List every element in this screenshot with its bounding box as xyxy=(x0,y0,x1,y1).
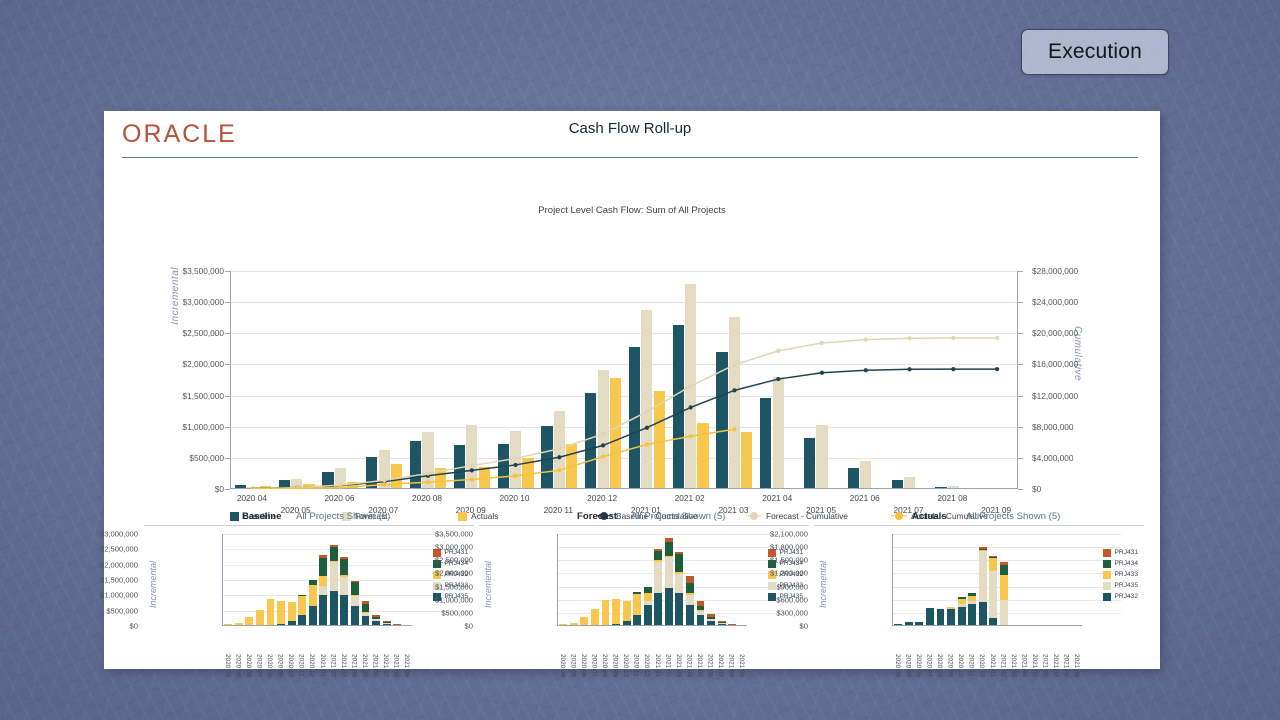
subchart-bar-segment xyxy=(288,602,296,621)
subchart-bar-segment xyxy=(351,582,359,595)
subchart-x-tick: 2021 01 xyxy=(989,654,996,677)
legend-item[interactable]: PRJ432 xyxy=(1103,593,1138,601)
subchart-x-tick: 2020 07 xyxy=(255,654,262,677)
subchart-plot-area: $0$300,000$600,000$900,000$1,200,000$1,5… xyxy=(892,534,1082,626)
subchart-bar-segment xyxy=(686,576,694,583)
subchart-bar-segment xyxy=(968,596,976,601)
subchart-subtitle: All Projects Shown (5) xyxy=(966,511,1060,522)
tick-mark xyxy=(225,427,230,428)
subchart-x-tick: 2020 10 xyxy=(622,654,629,677)
subchart-title: Actuals xyxy=(912,511,947,522)
subchart-x-tick: 2020 06 xyxy=(580,654,587,677)
subchart-bar-segment xyxy=(968,604,976,625)
subchart-bar-segment xyxy=(989,558,997,571)
legend-swatch xyxy=(1103,593,1111,601)
subchart-x-tick: 2020 12 xyxy=(643,654,650,677)
execution-button-label: Execution xyxy=(1048,40,1142,64)
subchart-bar-segment xyxy=(675,554,683,572)
subchart-bar-segment xyxy=(707,621,715,625)
tick-mark xyxy=(225,396,230,397)
main-chart-y2-tick: $28,000,000 xyxy=(1024,266,1114,276)
subchart-header: BaselineAll Projects Shown (5) xyxy=(144,509,474,526)
subchart-bar-segment xyxy=(245,617,253,625)
subchart-x-tick: 2021 05 xyxy=(361,654,368,677)
subchart-bar-segment xyxy=(665,542,673,556)
subchart-bar-segment xyxy=(351,596,359,606)
subchart-bar-segment xyxy=(362,612,370,616)
subchart-bar-segment xyxy=(612,624,620,625)
subchart-y-tick: $1,800,000 xyxy=(718,543,808,552)
main-chart-y2-tick: $0 xyxy=(1024,484,1114,494)
subchart-bar-segment xyxy=(288,621,296,625)
subchart-x-tick: 2020 11 xyxy=(968,654,975,677)
subchart-bar-segment xyxy=(968,601,976,604)
subchart-bar-segment xyxy=(654,562,662,593)
subchart-y-tick: $0 xyxy=(718,622,808,631)
main-chart-x-tick: 2020 10 xyxy=(500,493,530,503)
subchart-title: Baseline xyxy=(242,511,281,522)
subchart-bar-segment xyxy=(915,622,923,625)
main-chart-plot-area: $0$500,000$1,000,000$1,500,000$2,000,000… xyxy=(230,271,1018,489)
legend-label: PRJ431 xyxy=(1115,549,1138,556)
tick-mark xyxy=(225,302,230,303)
subchart-bar-segment xyxy=(894,624,902,625)
main-chart-x-tick: 2020 06 xyxy=(324,493,354,503)
main-chart-x-tick: 2020 12 xyxy=(587,493,617,503)
main-cashflow-chart: Project Level Cash Flow: Sum of All Proj… xyxy=(104,159,1160,409)
subchart-bar-segment xyxy=(989,557,997,558)
subchart-bar-segment xyxy=(602,600,610,625)
subchart-bar-segment xyxy=(968,593,976,596)
subchart-bar-segment xyxy=(330,547,338,560)
subchart-bar-segment xyxy=(298,596,306,615)
subchart-x-tick: 2020 05 xyxy=(234,654,241,677)
subchart-bar-segment xyxy=(372,619,380,621)
subchart-bar-segment xyxy=(256,610,264,625)
subchart-bar-segment xyxy=(665,538,673,542)
subchart-bar-segment xyxy=(612,599,620,624)
subchart-bar-segment xyxy=(697,611,705,615)
subchart-bar-segment xyxy=(580,617,588,625)
tick-mark xyxy=(225,333,230,334)
gridline xyxy=(893,534,1121,535)
subchart-bar-segment xyxy=(905,622,913,625)
subchart-subtitle: All Projects Shown (5) xyxy=(296,511,390,522)
page-title: Cash Flow Roll-up xyxy=(122,120,1138,137)
subchart-y-axis-title: Incremental xyxy=(818,561,828,608)
tick-mark xyxy=(1018,271,1023,272)
subchart-bar-segment xyxy=(330,562,338,591)
subchart-bar-segment xyxy=(654,593,662,625)
subchart-x-tick: 2021 09 xyxy=(1073,654,1080,677)
subchart-bar-segment xyxy=(351,595,359,596)
subchart-bar-segment xyxy=(979,547,987,549)
tick-mark xyxy=(1018,333,1023,334)
subchart-bar-segment xyxy=(697,606,705,611)
subchart-title: Forecast xyxy=(577,511,617,522)
subchart-bar-segment xyxy=(298,595,306,596)
subchart-bar-segment xyxy=(989,571,997,618)
subchart-bar-segment xyxy=(979,549,987,550)
subchart-bar-segment xyxy=(665,557,673,588)
legend-label: PRJ432 xyxy=(1115,593,1138,600)
main-chart-y2-tick: $16,000,000 xyxy=(1024,359,1114,369)
main-chart-x-tick: 2020 08 xyxy=(412,493,442,503)
subchart-bar-segment xyxy=(591,609,599,625)
subchart-bar-segment xyxy=(1000,565,1008,575)
subchart-bar-segment xyxy=(1000,562,1008,565)
subchart-x-tick: 2021 06 xyxy=(707,654,714,677)
subchart-x-tick: 2020 10 xyxy=(957,654,964,677)
subchart-bar-segment xyxy=(362,601,370,604)
subchart-bar-segment xyxy=(686,583,694,594)
subchart-actuals: ActualsAll Projects Shown (5)Incremental… xyxy=(814,509,1144,664)
subchart-x-tick: 2020 08 xyxy=(601,654,608,677)
subchart-bar-segment xyxy=(340,595,348,625)
subchart-bar-segment xyxy=(644,601,652,604)
execution-button[interactable]: Execution xyxy=(1021,29,1169,75)
subchart-bar-segment xyxy=(633,615,641,626)
subchart-bar-segment xyxy=(319,586,327,595)
legend-swatch xyxy=(1103,560,1111,568)
subchart-y-tick: $2,500,000 xyxy=(48,545,138,554)
main-chart-x-tick: 2021 08 xyxy=(937,493,967,503)
subchart-y-tick: $3,000,000 xyxy=(48,530,138,539)
subchart-bar-segment xyxy=(235,623,243,625)
subchart-bar-segment xyxy=(1000,600,1008,625)
subchart-x-tick: 2021 03 xyxy=(1010,654,1017,677)
legend-item[interactable]: PRJ431 xyxy=(1103,549,1138,557)
subchart-x-tick: 2021 03 xyxy=(340,654,347,677)
subchart-bar-segment xyxy=(372,617,380,620)
subchart-bar-segment xyxy=(362,616,370,625)
subchart-bar-segment xyxy=(675,593,683,625)
subchart-x-tick: 2020 08 xyxy=(936,654,943,677)
subchart-x-tick: 2021 02 xyxy=(329,654,336,677)
subchart-x-tick: 2020 05 xyxy=(904,654,911,677)
legend-item[interactable]: PRJ434 xyxy=(1103,560,1138,568)
subchart-y-tick: $300,000 xyxy=(718,608,808,617)
cumulative-lines xyxy=(231,271,1019,489)
subchart-bar-segment xyxy=(623,601,631,622)
subchart-x-tick: 2020 09 xyxy=(612,654,619,677)
subchart-bar-segment xyxy=(686,595,694,606)
subchart-bar-segment xyxy=(340,575,348,577)
subchart-bar-segment xyxy=(958,599,966,604)
subchart-y-tick: $0 xyxy=(383,622,473,631)
subchart-x-tick: 2020 06 xyxy=(245,654,252,677)
subchart-bar-segment xyxy=(697,610,705,611)
subchart-bar-segment xyxy=(675,572,683,574)
main-chart-y-tick: $1,000,000 xyxy=(134,422,224,432)
tick-mark xyxy=(1018,364,1023,365)
subchart-bar-segment xyxy=(330,591,338,625)
subchart-bar-segment xyxy=(926,608,934,625)
subchart-bar-segment xyxy=(623,621,631,625)
subchart-bar-segment xyxy=(644,593,652,601)
main-chart-y2-tick: $12,000,000 xyxy=(1024,391,1114,401)
subchart-y-tick: $0 xyxy=(48,622,138,631)
subchart-y-tick: $2,000,000 xyxy=(383,569,473,578)
subchart-x-tick: 2020 12 xyxy=(978,654,985,677)
subchart-bar-segment xyxy=(979,551,987,601)
subchart-bar-segment xyxy=(319,555,327,558)
subchart-bar-segment xyxy=(633,594,641,615)
subchart-bar-segment xyxy=(707,617,715,619)
subchart-bar-segment xyxy=(654,551,662,560)
subchart-bar-segment xyxy=(947,609,955,625)
subchart-bar-segment xyxy=(654,560,662,562)
subchart-x-tick: 2020 06 xyxy=(915,654,922,677)
subchart-y-tick: $1,200,000 xyxy=(718,569,808,578)
subchart-x-tick: 2021 02 xyxy=(999,654,1006,677)
subchart-bar-segment xyxy=(224,624,232,625)
subchart-x-tick: 2021 04 xyxy=(685,654,692,677)
subchart-x-tick: 2020 09 xyxy=(947,654,954,677)
main-chart-y2-tick: $4,000,000 xyxy=(1024,453,1114,463)
subchart-bar-segment xyxy=(372,615,380,617)
subchart-bar-segment xyxy=(319,576,327,586)
subchart-x-tick: 2021 09 xyxy=(403,654,410,677)
subchart-bar-segment xyxy=(330,545,338,547)
subchart-x-tick: 2021 01 xyxy=(319,654,326,677)
subchart-bar-segment xyxy=(309,606,317,625)
subchart-bar-segment xyxy=(937,609,945,625)
subchart-x-tick: 2020 07 xyxy=(590,654,597,677)
subchart-legend: PRJ431PRJ434PRJ433PRJ435PRJ432 xyxy=(1103,549,1138,604)
legend-swatch xyxy=(1103,582,1111,590)
subchart-y-tick: $600,000 xyxy=(718,595,808,604)
subchart-bar-segment xyxy=(947,607,955,609)
subchart-x-tick: 2020 04 xyxy=(894,654,901,677)
subchart-x-tick: 2021 03 xyxy=(675,654,682,677)
subchart-bar-segment xyxy=(362,604,370,611)
subchart-y-axis-title: Incremental xyxy=(148,561,158,608)
subchart-y-tick: $1,500,000 xyxy=(48,576,138,585)
subchart-x-tick: 2021 08 xyxy=(1063,654,1070,677)
subchart-bar-segment xyxy=(559,624,567,625)
subchart-x-tick: 2021 06 xyxy=(1042,654,1049,677)
subchart-y-tick: $1,500,000 xyxy=(383,582,473,591)
subchart-x-tick: 2020 08 xyxy=(266,654,273,677)
main-chart-y-tick: $2,500,000 xyxy=(134,328,224,338)
tick-mark xyxy=(1018,302,1023,303)
subchart-bar-segment xyxy=(330,561,338,563)
subchart-bar-segment xyxy=(979,550,987,552)
subchart-x-tick: 2021 06 xyxy=(372,654,379,677)
subchart-x-tick: 2020 11 xyxy=(298,654,305,677)
subchart-bar-segment xyxy=(340,577,348,595)
main-chart-y-tick: $0 xyxy=(134,484,224,494)
subchart-y-tick: $500,000 xyxy=(48,606,138,615)
legend-swatch xyxy=(1103,571,1111,579)
tick-mark xyxy=(225,364,230,365)
subchart-bar-segment xyxy=(665,588,673,625)
legend-label: PRJ434 xyxy=(1115,560,1138,567)
subchart-bar-segment xyxy=(644,587,652,593)
subchart-x-tick: 2020 11 xyxy=(633,654,640,677)
subchart-x-tick: 2021 08 xyxy=(393,654,400,677)
subchart-bar-segment xyxy=(707,619,715,621)
subchart-bar-segment xyxy=(309,580,317,586)
main-chart-y2-tick: $8,000,000 xyxy=(1024,422,1114,432)
slide-header: ORACLE Cash Flow Roll-up xyxy=(122,111,1138,158)
tick-mark xyxy=(225,489,230,490)
subchart-bar-segment xyxy=(686,593,694,594)
subchart-bar-segment xyxy=(958,604,966,607)
subchart-header: ActualsAll Projects Shown (5) xyxy=(814,509,1144,526)
subchart-x-tick: 2020 04 xyxy=(559,654,566,677)
tick-mark xyxy=(1018,427,1023,428)
main-chart-y2-tick: $24,000,000 xyxy=(1024,297,1114,307)
subchart-subtitle: All Projects Shown (5) xyxy=(631,511,725,522)
tick-mark xyxy=(1018,489,1023,490)
subchart-bar-segment xyxy=(686,605,694,625)
main-chart-title: Project Level Cash Flow: Sum of All Proj… xyxy=(104,205,1160,216)
legend-item[interactable]: PRJ435 xyxy=(1103,582,1138,590)
subchart-y-tick: $2,000,000 xyxy=(48,560,138,569)
main-chart-y-tick: $500,000 xyxy=(134,453,224,463)
subchart-x-tick: 2021 07 xyxy=(1052,654,1059,677)
main-chart-y2-tick: $20,000,000 xyxy=(1024,328,1114,338)
tick-mark xyxy=(1018,458,1023,459)
main-chart-x-tick: 2021 06 xyxy=(850,493,880,503)
subchart-bar-segment xyxy=(267,599,275,625)
subchart-bar-segment xyxy=(319,558,327,576)
subchart-y-tick: $500,000 xyxy=(383,608,473,617)
main-chart-y-tick: $3,500,000 xyxy=(134,266,224,276)
report-slide: ORACLE Cash Flow Roll-up Project Level C… xyxy=(104,111,1160,669)
subchart-x-tick: 2021 04 xyxy=(1020,654,1027,677)
subchart-bar-segment xyxy=(697,601,705,606)
subchart-bar-segment xyxy=(277,624,285,625)
subchart-header: ForecastAll Projects Shown (5) xyxy=(479,509,809,526)
subchart-y-axis-title: Incremental xyxy=(483,561,493,608)
subchart-x-tick: 2021 01 xyxy=(654,654,661,677)
tick-mark xyxy=(225,458,230,459)
subchart-bar-segment xyxy=(372,621,380,625)
main-chart-y-tick: $3,000,000 xyxy=(134,297,224,307)
subchart-bar-segment xyxy=(675,574,683,593)
legend-item[interactable]: PRJ433 xyxy=(1103,571,1138,579)
subchart-bar-segment xyxy=(298,615,306,625)
subchart-bar-segment xyxy=(309,585,317,605)
subchart-bar-segment xyxy=(319,595,327,625)
subchart-y-tick: $1,000,000 xyxy=(48,591,138,600)
legend-label: PRJ433 xyxy=(1115,571,1138,578)
subchart-y-tick: $3,000,000 xyxy=(383,543,473,552)
tick-mark xyxy=(225,271,230,272)
subchart-x-tick: 2020 10 xyxy=(287,654,294,677)
subchart-bar-segment xyxy=(351,606,359,625)
subchart-bar-segment xyxy=(633,592,641,593)
subchart-bar-segment xyxy=(340,557,348,559)
subchart-x-tick: 2020 07 xyxy=(925,654,932,677)
subchart-x-tick: 2021 09 xyxy=(738,654,745,677)
legend-label: PRJ435 xyxy=(1115,582,1138,589)
main-chart-x-tick: 2021 02 xyxy=(675,493,705,503)
gridline xyxy=(893,560,1121,561)
main-chart-x-tick: 2021 04 xyxy=(762,493,792,503)
legend-swatch xyxy=(1103,549,1111,557)
subchart-y-tick: $2,500,000 xyxy=(383,556,473,565)
subchart-x-tick: 2021 07 xyxy=(382,654,389,677)
subchart-bar-segment xyxy=(570,623,578,625)
gridline xyxy=(893,547,1121,548)
subchart-x-tick: 2020 05 xyxy=(569,654,576,677)
subchart-bar-segment xyxy=(958,607,966,625)
subchart-bar-segment xyxy=(989,618,997,625)
subchart-x-tick: 2020 09 xyxy=(277,654,284,677)
subchart-y-tick: $1,000,000 xyxy=(383,595,473,604)
subchart-x-tick: 2021 08 xyxy=(728,654,735,677)
subchart-y-tick: $900,000 xyxy=(718,582,808,591)
subchart-y-tick: $1,500,000 xyxy=(718,556,808,565)
subchart-bar-segment xyxy=(654,549,662,551)
subchart-x-tick: 2021 05 xyxy=(696,654,703,677)
subchart-bar-segment xyxy=(644,605,652,626)
subchart-x-tick: 2021 04 xyxy=(350,654,357,677)
subchart-y-tick: $2,100,000 xyxy=(718,530,808,539)
subchart-bar-segment xyxy=(697,615,705,625)
subchart-bar-segment xyxy=(351,581,359,583)
subchart-bar-segment xyxy=(675,552,683,554)
subchart-bar-segment xyxy=(707,614,715,617)
subchart-bar-segment xyxy=(1000,575,1008,600)
subchart-x-tick: 2021 02 xyxy=(664,654,671,677)
subchart-bar-segment xyxy=(340,559,348,575)
subchart-x-tick: 2021 07 xyxy=(717,654,724,677)
subchart-x-tick: 2020 04 xyxy=(224,654,231,677)
subchart-bar-segment xyxy=(989,556,997,557)
subchart-y-tick: $3,500,000 xyxy=(383,530,473,539)
main-chart-y-tick: $1,500,000 xyxy=(134,391,224,401)
subchart-bar-segment xyxy=(665,556,673,558)
subchart-bar-segment xyxy=(277,601,285,624)
subchart-bar-segment xyxy=(362,612,370,613)
subchart-bar-segment xyxy=(979,602,987,625)
subchart-x-tick: 2020 12 xyxy=(308,654,315,677)
tick-mark xyxy=(1018,396,1023,397)
subchart-x-tick: 2021 05 xyxy=(1031,654,1038,677)
subchart-bar-segment xyxy=(958,597,966,599)
main-chart-x-tick: 2020 04 xyxy=(237,493,267,503)
main-chart-y-tick: $2,000,000 xyxy=(134,359,224,369)
